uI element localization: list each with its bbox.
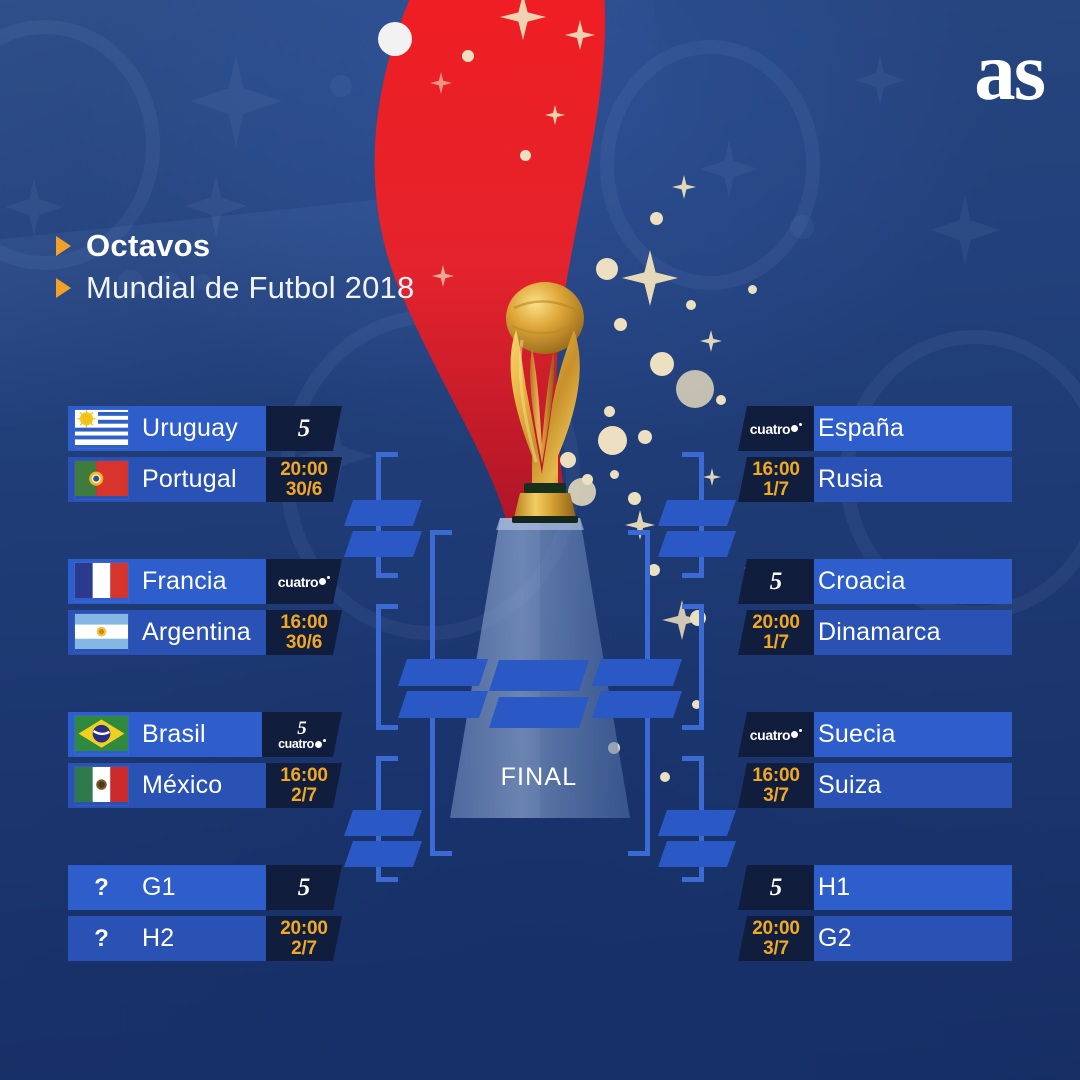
telecinco-logo: 5 (298, 416, 311, 441)
team-name: Uruguay (142, 414, 238, 443)
match-time-panel: 20:00 2/7 (266, 916, 342, 961)
match-time-panel: 20:00 1/7 (738, 610, 814, 655)
match-time: 16:00 (752, 766, 800, 786)
broadcast-channel-panel: 5 (738, 559, 814, 604)
triangle-bullet-icon (56, 236, 71, 256)
telecinco-logo: 5 (770, 569, 783, 594)
match-time-panel: 16:00 2/7 (266, 763, 342, 808)
team-name: Dinamarca (818, 618, 941, 647)
triangle-bullet-icon (56, 278, 71, 298)
team-name: Brasil (142, 720, 206, 749)
broadcast-channel-panel: cuatro (738, 406, 814, 451)
match-time-panel: 16:00 30/6 (266, 610, 342, 655)
broadcast-channel-panel: cuatro (738, 712, 814, 757)
match-time-panel: 16:00 3/7 (738, 763, 814, 808)
match-card[interactable]: Brasil México 5cuatro 16:00 2/7 (68, 712, 330, 808)
heading-line-2: Mundial de Futbol 2018 (86, 270, 414, 306)
match-date: 1/7 (763, 480, 789, 500)
cuatro-logo: cuatro (750, 422, 802, 436)
match-date: 3/7 (763, 939, 789, 959)
team-name: Suiza (818, 771, 882, 800)
match-card[interactable]: Croacia Dinamarca 5 20:00 1/7 (750, 559, 1012, 655)
cuatro-logo: cuatro (278, 738, 326, 751)
team-name: G1 (142, 873, 176, 902)
team-name: Francia (142, 567, 227, 596)
team-name: Portugal (142, 465, 237, 494)
flag-francia (75, 563, 128, 601)
match-date: 1/7 (763, 633, 789, 653)
heading-line-1: Octavos (86, 228, 210, 264)
match-date: 2/7 (291, 786, 317, 806)
quarterfinal-slot (344, 500, 422, 557)
match-time: 16:00 (752, 460, 800, 480)
team-name: H2 (142, 924, 174, 953)
final-label: FINAL (489, 763, 589, 792)
unknown-team-placeholder: ? (75, 925, 128, 953)
broadcast-channel-panel: 5 (266, 406, 342, 451)
flag-mexico (75, 767, 128, 805)
broadcast-channel-panel: 5cuatro (262, 712, 342, 757)
match-time-panel: 20:00 30/6 (266, 457, 342, 502)
bracket-hook (430, 700, 452, 856)
team-name: Argentina (142, 618, 251, 647)
match-time: 20:00 (752, 613, 800, 633)
heading-row-1: Octavos (56, 228, 414, 264)
telecinco-logo: 5 (770, 875, 783, 900)
team-name: H1 (818, 873, 850, 902)
team-name: España (818, 414, 904, 443)
broadcast-channel-panel: cuatro (266, 559, 342, 604)
team-name: Croacia (818, 567, 906, 596)
quarterfinal-slot (658, 500, 736, 557)
flag-argentina (75, 614, 128, 652)
match-card[interactable]: España Rusia cuatro 16:00 1/7 (750, 406, 1012, 502)
semifinal-slot (592, 659, 682, 718)
final-slot (489, 660, 589, 728)
match-card[interactable]: ?G1 ?H2 5 20:00 2/7 (68, 865, 330, 961)
match-time: 16:00 (280, 613, 328, 633)
team-name: Rusia (818, 465, 883, 494)
as-logo: as (974, 34, 1044, 109)
flag-uruguay (75, 410, 128, 448)
flag-brasil (75, 716, 128, 754)
team-name: México (142, 771, 222, 800)
telecinco-logo: 5 (297, 719, 307, 738)
heading-row-2: Mundial de Futbol 2018 (56, 270, 414, 306)
cuatro-logo: cuatro (278, 575, 330, 589)
match-card[interactable]: Uruguay Portugal 5 20:00 30/6 (68, 406, 330, 502)
broadcast-channel-panel: 5 (738, 865, 814, 910)
match-date: 3/7 (763, 786, 789, 806)
match-time: 16:00 (280, 766, 328, 786)
match-time-panel: 20:00 3/7 (738, 916, 814, 961)
match-date: 30/6 (286, 633, 322, 653)
cuatro-logo: cuatro (750, 728, 802, 742)
unknown-team-placeholder: ? (75, 874, 128, 902)
match-card[interactable]: Suecia Suiza cuatro 16:00 3/7 (750, 712, 1012, 808)
bracket-hook (376, 604, 398, 730)
flag-portugal (75, 461, 128, 499)
match-card[interactable]: ?H1 ?G2 5 20:00 3/7 (750, 865, 1012, 961)
quarterfinal-slot (658, 810, 736, 867)
infographic-stage: as Octavos Mundial de Futbol 2018 (0, 0, 1080, 1080)
semifinal-slot (398, 659, 488, 718)
match-date: 2/7 (291, 939, 317, 959)
match-time: 20:00 (280, 460, 328, 480)
match-card[interactable]: Francia Argentina cuatro 16:00 30/6 (68, 559, 330, 655)
match-time: 20:00 (280, 919, 328, 939)
match-date: 30/6 (286, 480, 322, 500)
match-time: 20:00 (752, 919, 800, 939)
team-name: Suecia (818, 720, 896, 749)
quarterfinal-slot (344, 810, 422, 867)
page-title: Octavos Mundial de Futbol 2018 (56, 228, 414, 312)
bracket-hook (682, 604, 704, 730)
match-time-panel: 16:00 1/7 (738, 457, 814, 502)
telecinco-logo: 5 (298, 875, 311, 900)
broadcast-channel-panel: 5 (266, 865, 342, 910)
world-cup-trophy (492, 278, 598, 526)
bracket-hook (628, 700, 650, 856)
team-name: G2 (818, 924, 852, 953)
